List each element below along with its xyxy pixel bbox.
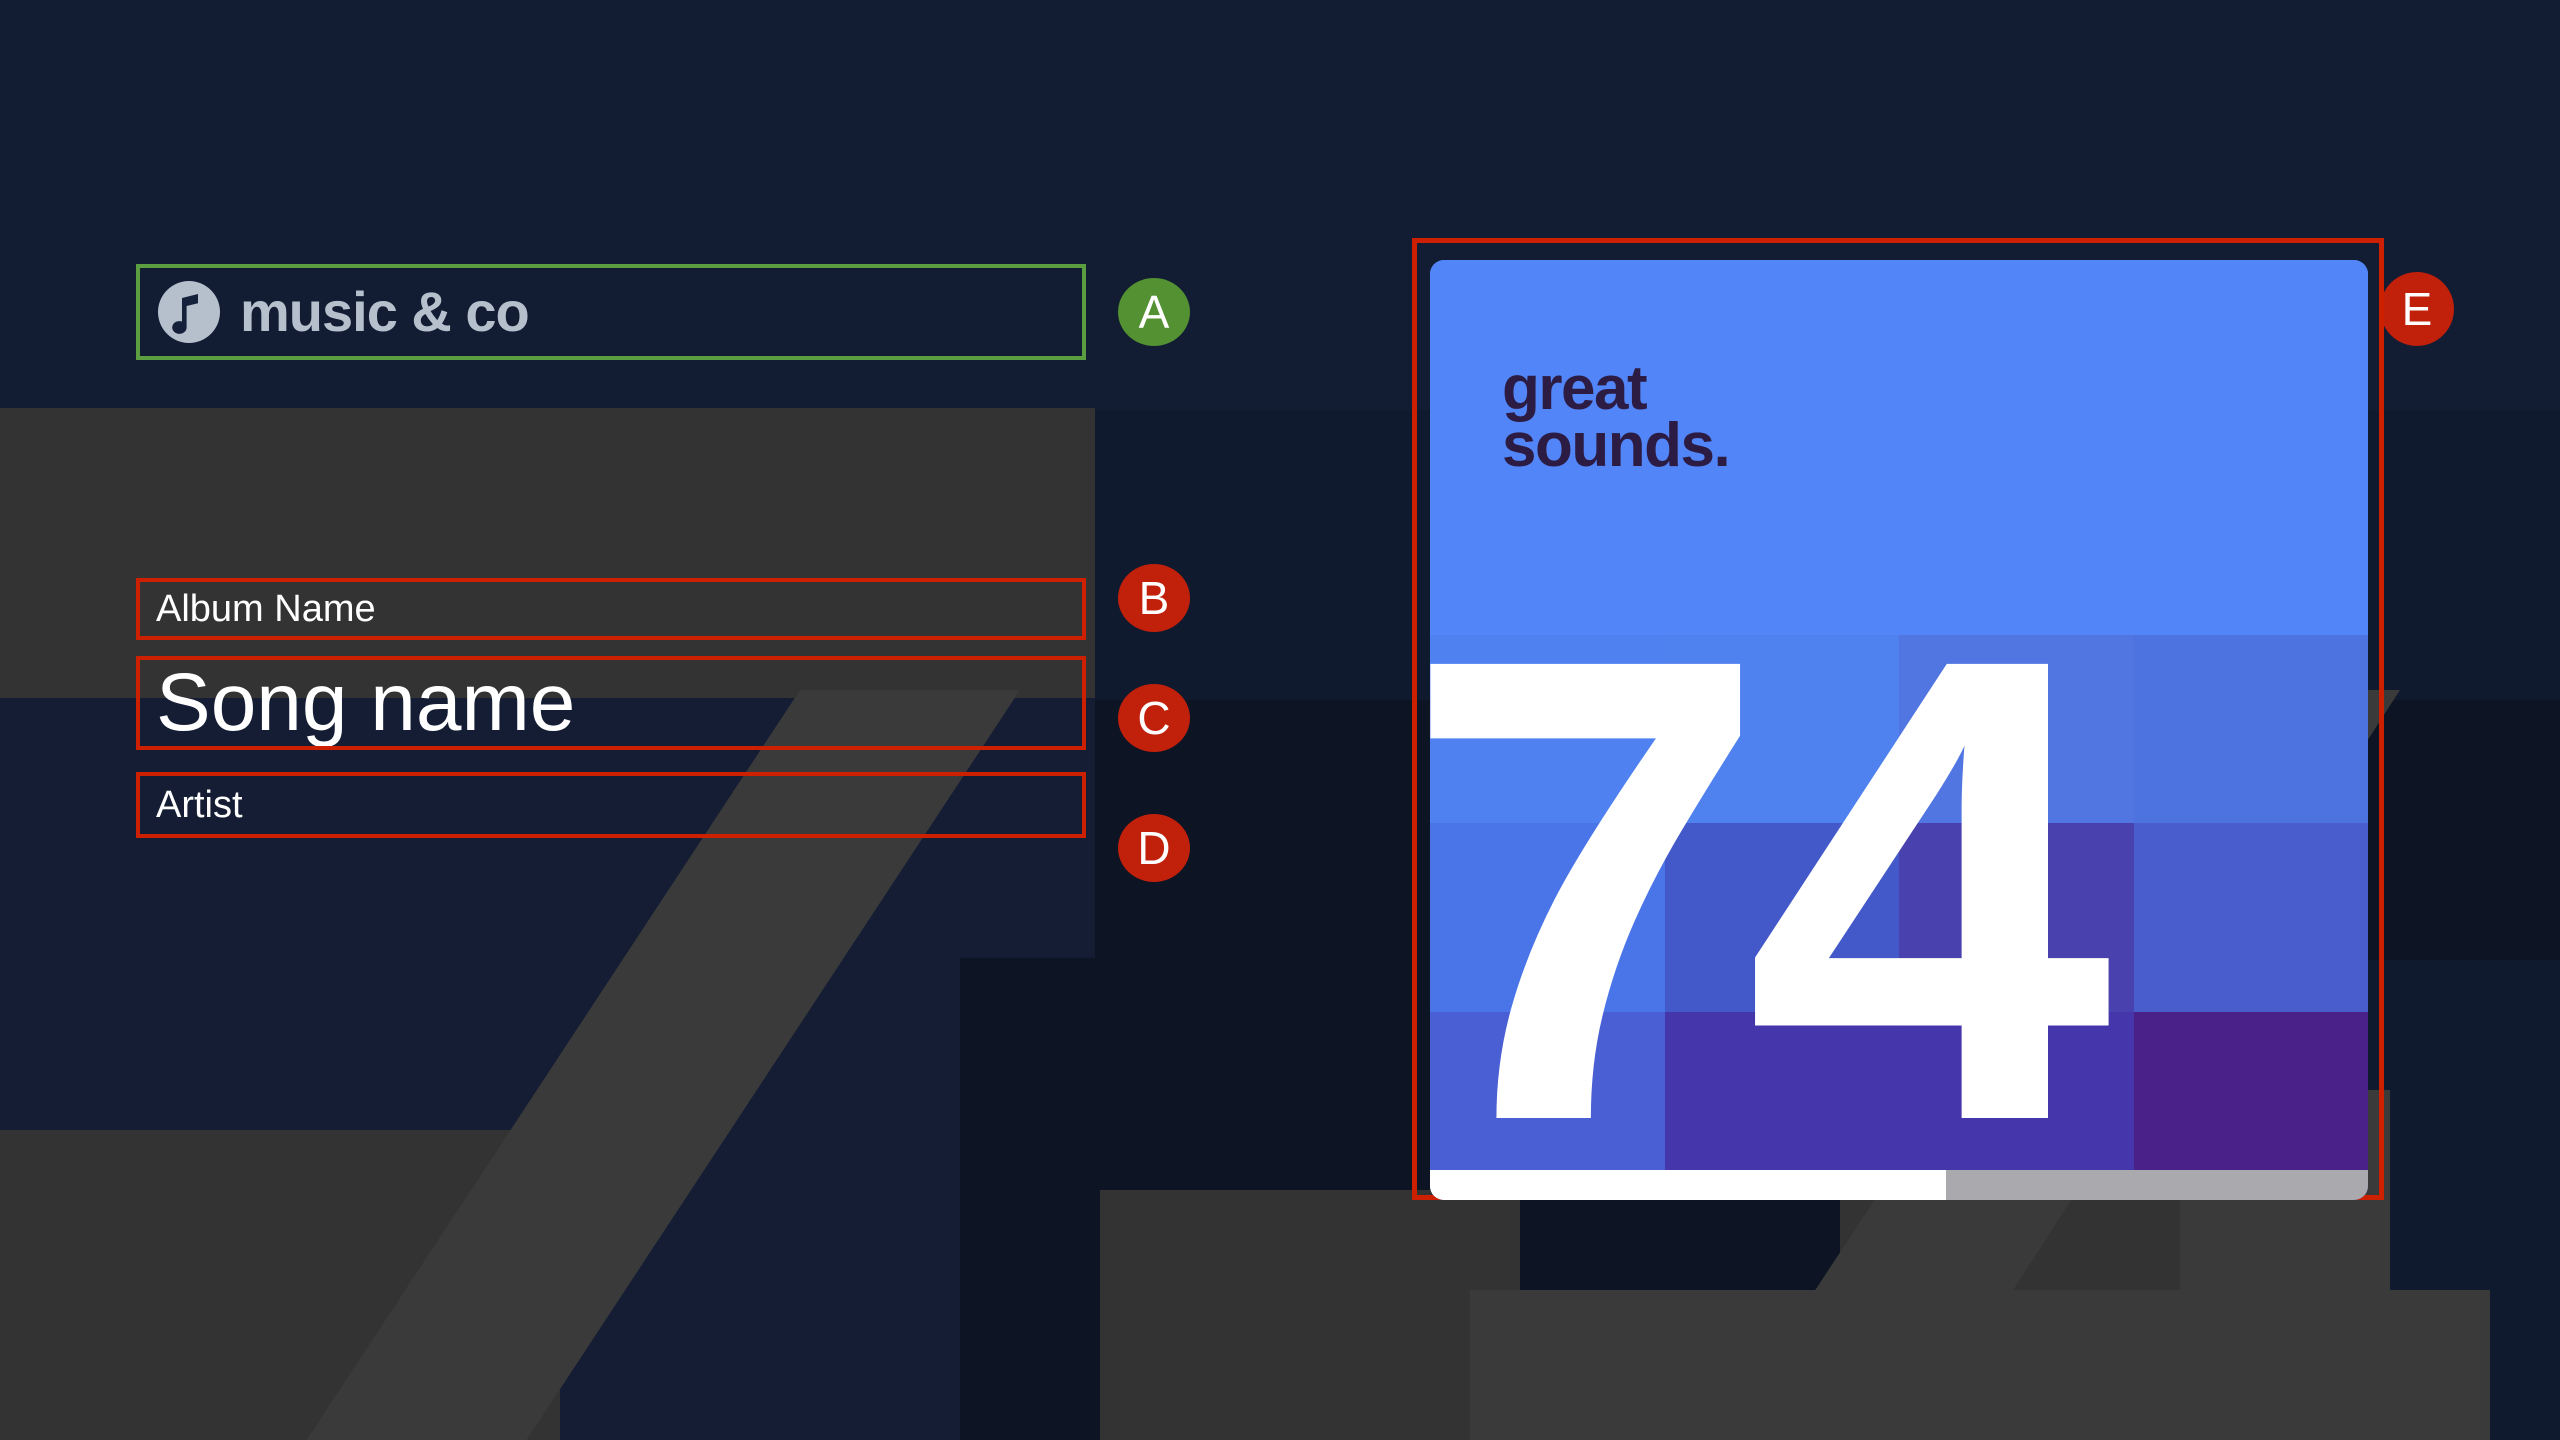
annotation-badge-e: E [2380,272,2454,346]
artist-field[interactable]: Artist [136,772,1086,838]
playback-progress-bar[interactable] [1430,1170,2368,1200]
annotation-badge-a: A [1118,278,1190,346]
song-name-field[interactable]: Song name [136,656,1086,750]
album-grid-cell [2134,823,2369,1011]
artist-label: Artist [136,786,243,824]
music-note-icon [158,281,220,343]
artist-highlight-box [136,772,1086,838]
album-name-label: Album Name [136,590,376,628]
annotation-badge-c: C [1118,684,1190,752]
album-name-field[interactable]: Album Name [136,578,1086,640]
annotation-badge-d: D [1118,814,1190,882]
playback-progress-fill [1430,1170,1946,1200]
annotation-badge-b: B [1118,564,1190,632]
album-tagline-label: great sounds. [1502,360,1729,474]
album-grid-cell [2134,635,2369,823]
brand-name-label: music & co [240,284,529,340]
brand-logo[interactable]: music & co [136,264,1086,360]
album-number-label: 74 [1430,560,2088,1200]
background-grey-band-center [1100,1190,1520,1440]
album-art-panel[interactable]: great sounds. 74 [1430,260,2368,1200]
song-name-label: Song name [136,662,575,744]
album-grid-cell [2134,260,2369,635]
background-grey-band-right [1840,1180,2180,1440]
now-playing-panel: music & co Album Name Song name Artist [136,0,1086,1440]
